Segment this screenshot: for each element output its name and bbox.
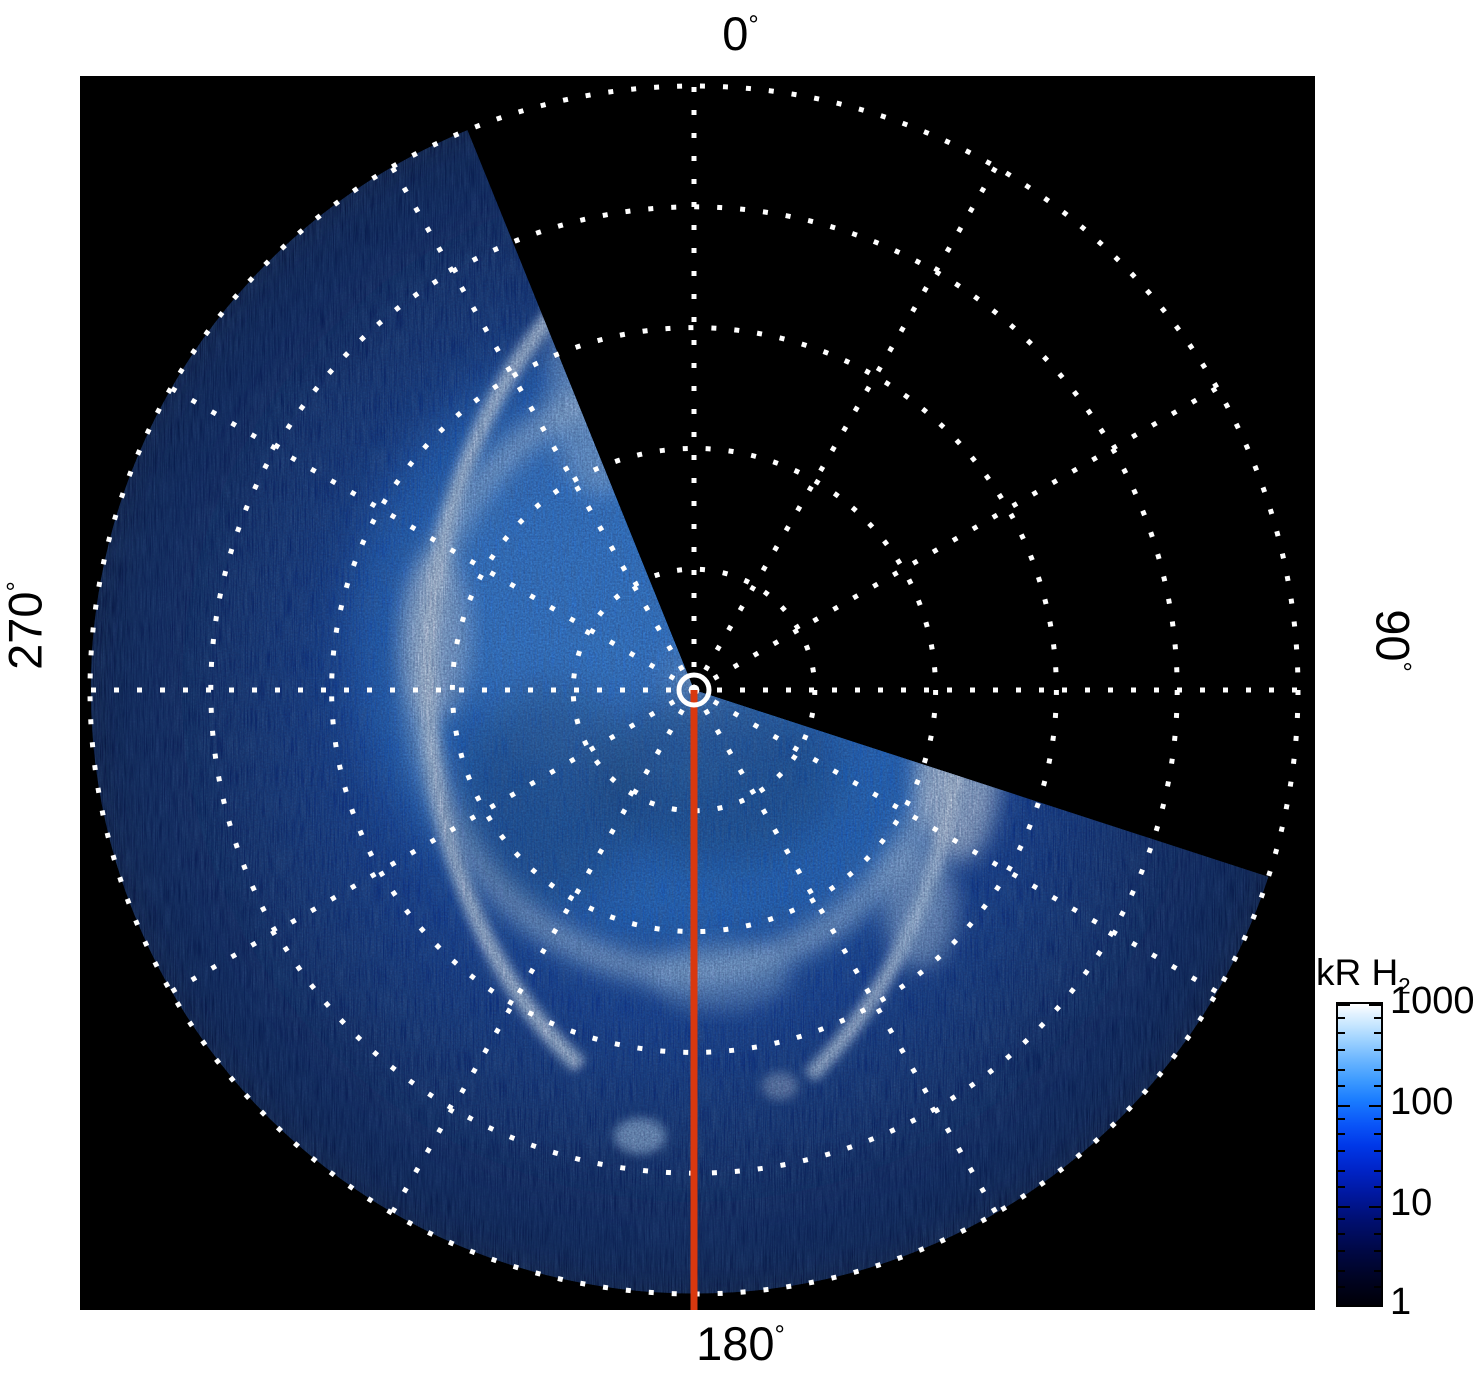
colorbar-minor-tick	[1374, 1085, 1381, 1087]
colorbar-minor-tick	[1338, 1250, 1345, 1252]
colorbar-minor-tick	[1374, 1032, 1381, 1034]
colorbar-tick-1	[1338, 1305, 1350, 1307]
colorbar-minor-tick	[1374, 1049, 1381, 1051]
colorbar-minor-tick	[1338, 1270, 1345, 1272]
colorbar-minor-tick	[1374, 1133, 1381, 1135]
colorbar-tick-1000-right	[1369, 1004, 1381, 1006]
colorbar-tick-100	[1338, 1105, 1350, 1107]
colorbar-label-1: 1	[1390, 1283, 1411, 1321]
polar-projection-svg	[80, 76, 1315, 1310]
colorbar-minor-tick	[1338, 1233, 1345, 1235]
degree-symbol: °	[1387, 661, 1415, 671]
degree-symbol: °	[748, 11, 758, 39]
colorbar-minor-tick	[1374, 1017, 1381, 1019]
colorbar-minor-tick	[1374, 1270, 1381, 1272]
colorbar-minor-tick	[1338, 1170, 1345, 1172]
colorbar-minor-tick	[1338, 1085, 1345, 1087]
angle-label-0-value: 0	[722, 7, 748, 60]
angle-label-0: 0°	[0, 10, 1481, 57]
colorbar-minor-tick	[1338, 1017, 1345, 1019]
colorbar-label-100: 100	[1390, 1083, 1453, 1121]
colorbar-minor-tick	[1374, 1233, 1381, 1235]
colorbar-tick-1-right	[1369, 1305, 1381, 1307]
colorbar-tick-1000	[1338, 1004, 1350, 1006]
colorbar-minor-tick	[1374, 1286, 1381, 1288]
colorbar-minor-tick	[1338, 1150, 1345, 1152]
colorbar-minor-tick	[1338, 1069, 1345, 1071]
figure-canvas: 0° 180° 270° 90°	[0, 0, 1481, 1386]
colorbar-minor-tick	[1338, 1118, 1345, 1120]
colorbar-minor-tick	[1374, 1170, 1381, 1172]
colorbar-minor-tick	[1374, 1150, 1381, 1152]
colorbar-minor-tick	[1374, 1250, 1381, 1252]
colorbar-minor-tick	[1374, 1218, 1381, 1220]
colorbar-title-text: kR H	[1316, 952, 1398, 993]
angle-label-180: 180°	[0, 1320, 1481, 1367]
colorbar-minor-tick	[1374, 1118, 1381, 1120]
angle-label-270: 270°	[2, 561, 49, 691]
colorbar-minor-tick	[1338, 1032, 1345, 1034]
colorbar-gradient	[1336, 1002, 1383, 1307]
degree-symbol: °	[775, 1321, 785, 1349]
colorbar-minor-tick	[1374, 1069, 1381, 1071]
colorbar-minor-tick	[1338, 1286, 1345, 1288]
grid-spoke-60	[694, 388, 1217, 690]
grid-spoke-30	[694, 167, 996, 690]
colorbar-label-10: 10	[1390, 1184, 1432, 1222]
colorbar-minor-tick	[1338, 1049, 1345, 1051]
colorbar-label-1000: 1000	[1390, 982, 1475, 1020]
degree-symbol: °	[3, 581, 31, 591]
colorbar-tick-100-right	[1369, 1105, 1381, 1107]
colorbar-minor-tick	[1338, 1218, 1345, 1220]
colorbar-minor-tick	[1338, 1133, 1345, 1135]
angle-label-90: 90°	[1370, 576, 1417, 706]
colorbar-tick-10	[1338, 1206, 1350, 1208]
angle-label-270-value: 270	[0, 591, 52, 669]
angle-label-180-value: 180	[696, 1317, 774, 1370]
colorbar-tick-10-right	[1369, 1206, 1381, 1208]
polar-plot-area	[80, 76, 1315, 1310]
angle-label-90-value: 90	[1367, 609, 1420, 661]
colorbar-minor-tick	[1374, 1186, 1381, 1188]
colorbar-minor-tick	[1338, 1186, 1345, 1188]
